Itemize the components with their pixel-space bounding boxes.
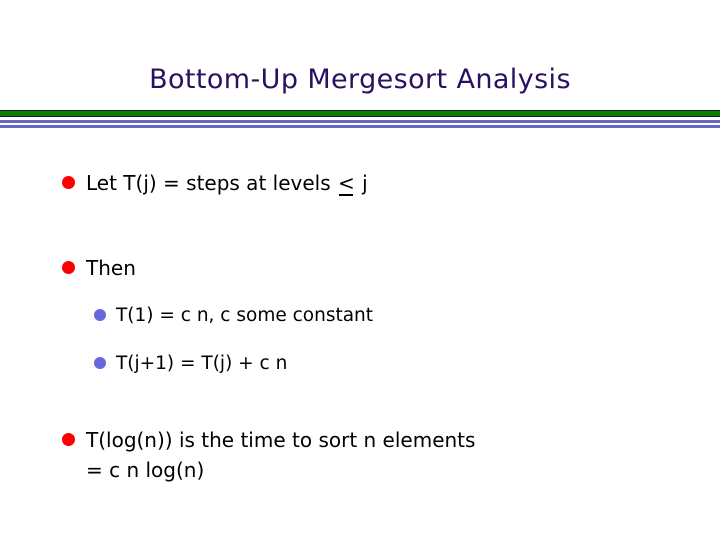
bullet-item-then: Then bbox=[62, 253, 136, 283]
slide-body: Let T(j) = steps at levels < j Then T(1)… bbox=[0, 150, 720, 540]
bullet-text-before-leq: Let T(j) = steps at levels bbox=[86, 171, 337, 195]
bullet-text-block: T(log(n)) is the time to sort n elements… bbox=[86, 425, 475, 485]
bullet-item-total-time: T(log(n)) is the time to sort n elements… bbox=[62, 425, 475, 485]
sub-bullet-dot-icon bbox=[94, 357, 106, 369]
title-area: Bottom-Up Mergesort Analysis bbox=[0, 64, 720, 95]
bullet-item-let-tj: Let T(j) = steps at levels < j bbox=[62, 168, 368, 198]
bullet-item-t1-base-case: T(1) = c n, c some constant bbox=[94, 302, 373, 330]
leq-underbar bbox=[339, 194, 353, 196]
bullet-text: Then bbox=[86, 253, 136, 283]
bullet-dot-icon bbox=[62, 176, 75, 189]
bullet-text: Let T(j) = steps at levels < j bbox=[86, 168, 368, 198]
less-than-or-equal-icon: < bbox=[337, 168, 356, 198]
divider-green-bottom-edge bbox=[0, 116, 720, 117]
bullet-text-continuation: = c n log(n) bbox=[86, 455, 475, 485]
bullet-dot-icon bbox=[62, 261, 75, 274]
sub-bullet-text: T(j+1) = T(j) + c n bbox=[116, 350, 287, 378]
divider-blue-line-bottom bbox=[0, 125, 720, 128]
less-than-glyph: < bbox=[338, 171, 355, 195]
bullet-item-recurrence: T(j+1) = T(j) + c n bbox=[94, 350, 287, 378]
bullet-text-after-leq: j bbox=[356, 171, 368, 195]
bullet-text: T(log(n)) is the time to sort n elements bbox=[86, 425, 475, 455]
sub-bullet-text: T(1) = c n, c some constant bbox=[116, 302, 373, 330]
sub-bullet-dot-icon bbox=[94, 309, 106, 321]
bullet-dot-icon bbox=[62, 433, 75, 446]
slide-canvas: Bottom-Up Mergesort Analysis Let T(j) = … bbox=[0, 0, 720, 540]
page-title: Bottom-Up Mergesort Analysis bbox=[149, 64, 571, 95]
